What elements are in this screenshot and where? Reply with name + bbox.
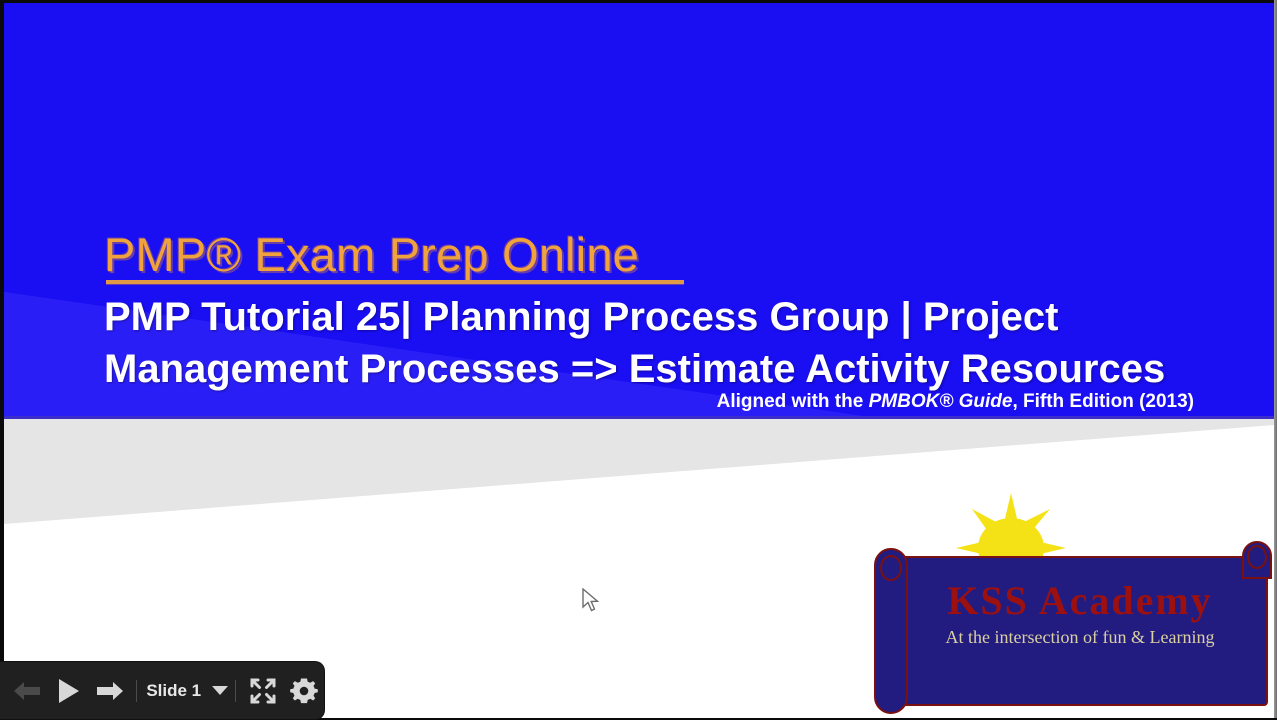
arrow-left-icon bbox=[14, 679, 42, 703]
slide-subtitle-line-1: PMP Tutorial 25| Planning Process Group … bbox=[104, 295, 1058, 339]
headline-underline bbox=[106, 280, 684, 284]
player-control-bar[interactable]: Slide 1 bbox=[0, 662, 324, 719]
settings-button[interactable] bbox=[284, 662, 324, 719]
logo-scroll-right-curl bbox=[1247, 545, 1267, 569]
chevron-down-icon bbox=[212, 686, 228, 695]
slide-subtitle: PMP Tutorial 25| Planning Process Group … bbox=[104, 291, 1214, 395]
slide-title-block: PMP® Exam Prep Online PMP Tutorial 25| P… bbox=[4, 3, 1274, 419]
play-icon bbox=[57, 678, 81, 704]
slide-selector[interactable]: Slide 1 bbox=[144, 662, 228, 719]
video-player-stage: PMP® Exam Prep Online PMP Tutorial 25| P… bbox=[0, 0, 1277, 720]
aligned-note-prefix: Aligned with the bbox=[717, 391, 869, 412]
previous-slide-button[interactable] bbox=[8, 662, 48, 719]
slide-selector-label: Slide 1 bbox=[144, 681, 203, 701]
fullscreen-icon bbox=[249, 677, 277, 705]
control-separator-1 bbox=[136, 680, 137, 702]
slide-aligned-note: Aligned with the PMBOK® Guide, Fifth Edi… bbox=[4, 391, 1194, 413]
slide-headline: PMP® Exam Prep Online bbox=[104, 231, 639, 278]
slide-subtitle-line-2: Management Processes => Estimate Activit… bbox=[104, 343, 1214, 395]
aligned-note-suffix: , Fifth Edition (2013) bbox=[1012, 391, 1194, 412]
arrow-right-icon bbox=[95, 679, 123, 703]
control-separator-2 bbox=[235, 680, 236, 702]
next-slide-button[interactable] bbox=[89, 662, 129, 719]
play-button[interactable] bbox=[48, 662, 88, 719]
gear-icon bbox=[290, 677, 318, 705]
kss-academy-logo: KSS Academy At the intersection of fun &… bbox=[870, 493, 1274, 718]
fullscreen-button[interactable] bbox=[243, 662, 283, 719]
logo-tagline: At the intersection of fun & Learning bbox=[892, 627, 1268, 648]
aligned-note-emphasis: PMBOK® Guide bbox=[869, 391, 1013, 412]
slide-canvas[interactable]: PMP® Exam Prep Online PMP Tutorial 25| P… bbox=[4, 3, 1274, 718]
logo-title: KSS Academy bbox=[892, 577, 1268, 624]
